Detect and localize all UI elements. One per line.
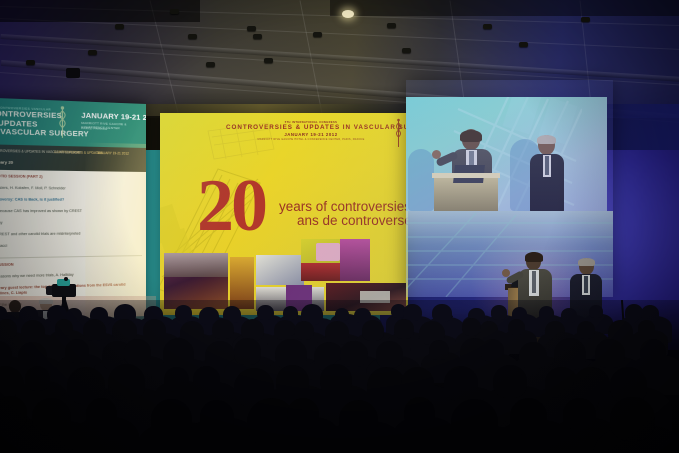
audience-head [86, 398, 117, 429]
agenda-item: DISCUSSION [0, 260, 142, 268]
ceiling-spotlight [402, 48, 411, 53]
main-projection-screen: 5TH INTERNATIONAL CONGRESS CONTROVERSIES… [160, 113, 408, 315]
main-slide-brand: CONTROVERSIES & UPDATES IN VASCULAR SURG… [226, 124, 396, 132]
audience-head [55, 319, 73, 336]
audience-head [481, 339, 504, 362]
audience-head [143, 319, 166, 341]
agenda-item: C. Setacci [0, 242, 142, 249]
audience-head [163, 338, 195, 369]
conference-hall-photo: 5TH CONTROVERSIES VASCULAR CONTROVERSIES… [0, 0, 679, 453]
ceiling-spotlight [26, 60, 35, 65]
audience-head [610, 397, 655, 442]
agenda-item: M. Bosiers, H. Koksfen, F. Moll, P. Schn… [0, 186, 142, 192]
ceiling-spotlight [206, 62, 215, 67]
agenda-divider [0, 255, 142, 259]
agenda-item: No, CREST and other carotid trials are m… [0, 231, 142, 238]
audience-head [577, 321, 596, 339]
collage-photo [256, 255, 304, 285]
audience-head [32, 398, 71, 437]
audience-head [83, 319, 106, 341]
live-video-image [406, 97, 607, 211]
ceiling-spotlight [387, 23, 396, 28]
left-slide-subbar: CONTROVERSIES & UPDATES IN VASCULAR SURG… [0, 144, 146, 172]
audience-head [193, 366, 220, 392]
agenda-item: CAROTID SESSION (PART 2) [0, 174, 142, 181]
collage-photo [340, 239, 370, 281]
audience-head [401, 367, 434, 399]
audience-head [320, 364, 352, 395]
main-slide-venue: MARRIOTT RIVE GAUCHE HOTEL & CONFERENCE … [226, 138, 396, 141]
audience-head [25, 366, 50, 391]
camera-microphone [64, 277, 68, 281]
audience-head [508, 319, 525, 335]
audience-head [432, 304, 451, 322]
audience-head [0, 319, 17, 339]
audience-head [340, 341, 367, 368]
main-slide-header: 5TH INTERNATIONAL CONGRESS CONTROVERSIES… [226, 121, 396, 141]
agenda-item: The reasons why we need more trials, A. … [0, 271, 142, 280]
left-slide-header: 5TH CONTROVERSIES VASCULAR CONTROVERSIES… [0, 98, 146, 148]
audience-head [640, 339, 666, 364]
audience-head [510, 398, 547, 435]
subbar-chip-b: CONTROVERSIES & UPDATES [54, 150, 102, 156]
caduceus-icon [54, 104, 71, 140]
audience-head [234, 338, 261, 365]
ceiling-spotlight [581, 17, 590, 22]
ceiling-spotlight [519, 42, 528, 47]
audience-head [404, 397, 435, 428]
audience-head [108, 364, 145, 401]
audience-head [212, 319, 233, 339]
audience-head [493, 365, 527, 398]
audience-head [175, 305, 192, 321]
audience-head [451, 399, 498, 446]
agenda-item: Controversy: CAS is Back, is it justifie… [0, 197, 142, 203]
collage-photo [164, 253, 228, 277]
subbar-chip-c: JANUARY 19-21 2012 [97, 151, 129, 156]
audience-head [287, 398, 319, 429]
audience-head [335, 308, 349, 321]
caduceus-icon [392, 118, 405, 148]
agenda-item: A. Gray [0, 220, 142, 226]
audience-head [294, 321, 315, 341]
left-slide-venue-2: PARIS, FRANCE [81, 126, 107, 131]
ceiling-spotlight [313, 32, 322, 37]
audience-head [21, 320, 45, 343]
collage-photo [316, 243, 340, 261]
audience-head [200, 400, 234, 433]
ceiling-spotlight [264, 58, 273, 63]
ceiling-spotlight [170, 9, 179, 14]
audience-head [519, 342, 547, 369]
ceiling-spotlight [253, 34, 262, 39]
audience-head [444, 366, 479, 400]
projected-shadow [408, 149, 434, 211]
audience-area [0, 300, 679, 453]
subbar-day-label: January 20 [0, 159, 13, 165]
audience-head [563, 398, 596, 431]
audience-head [545, 321, 566, 341]
audience-head [164, 367, 189, 392]
video-speaker-standing [530, 135, 568, 211]
audience-head [124, 339, 151, 366]
ceiling-spotlight [88, 50, 97, 55]
audience-head [554, 338, 586, 370]
audience-head [276, 365, 309, 397]
ceiling-spotlight [188, 34, 197, 39]
audience-head [362, 320, 383, 340]
audience-head [257, 305, 273, 320]
audience-head [339, 400, 378, 439]
ceiling-downlight-on [342, 10, 354, 18]
audience-head [283, 306, 298, 320]
audience-head [595, 339, 624, 368]
audience-head [151, 399, 192, 439]
audience-head [65, 339, 89, 363]
audience-head [638, 320, 656, 337]
audience-head [0, 396, 27, 429]
ceiling-spotlight [247, 26, 256, 31]
audience-head [561, 308, 577, 323]
main-slide-tagline-fr: ans de controverses [297, 213, 408, 229]
audience-head [589, 305, 603, 318]
audience-head [491, 305, 507, 319]
audience-head [394, 319, 415, 339]
ceiling-spotlight [115, 24, 124, 29]
agenda-item: Yes, because CAS has improved as shown b… [0, 209, 142, 214]
audience-head [539, 306, 555, 321]
ceiling-spotlight [483, 24, 492, 29]
audience-head [376, 341, 403, 368]
main-slide-big-number: 20 [197, 169, 265, 243]
audience-head [480, 321, 497, 338]
audience-head [429, 340, 449, 360]
